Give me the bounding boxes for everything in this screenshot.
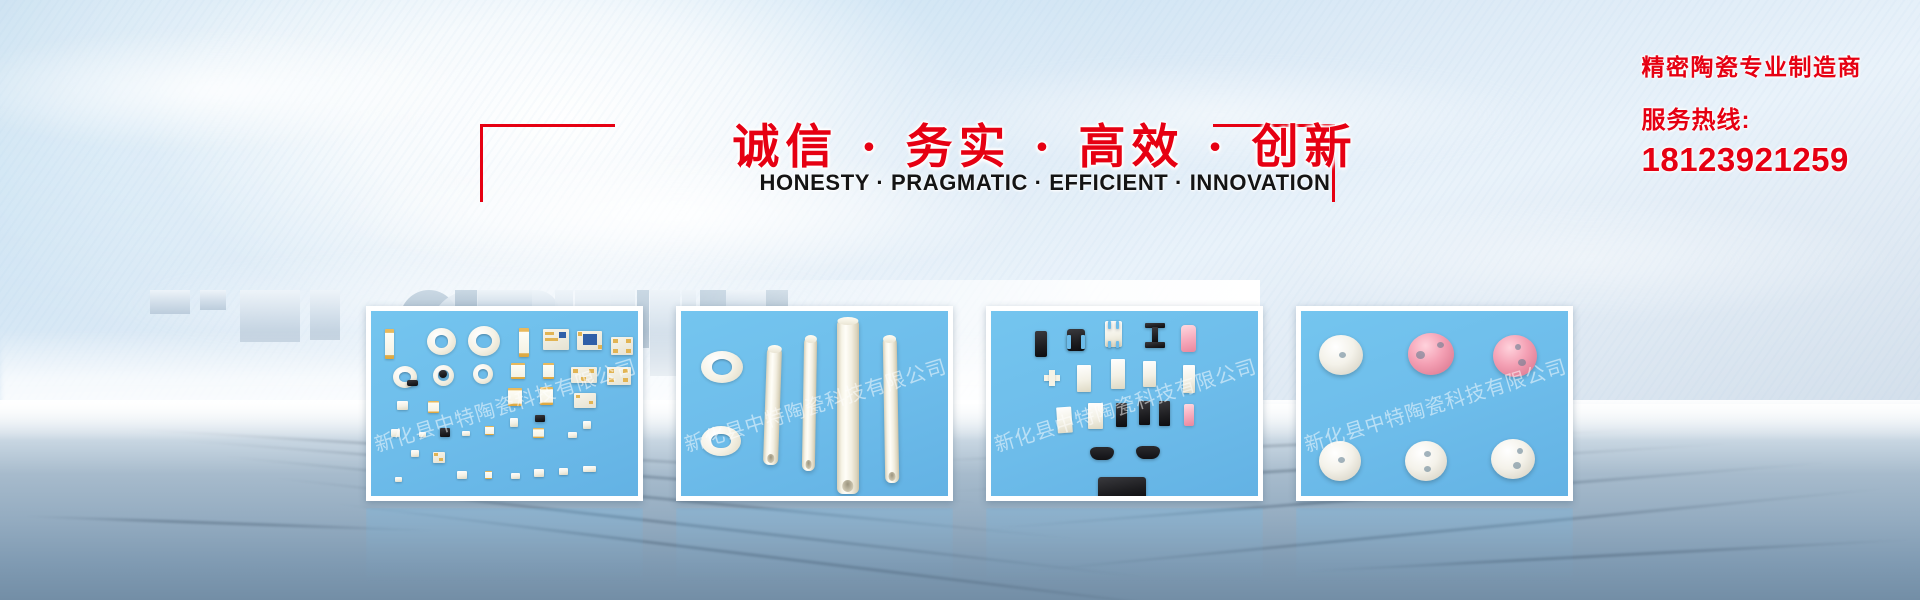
cloud-streak (1280, 200, 1900, 320)
product-panel-3[interactable]: 新化县中特陶瓷科技有限公司 (986, 306, 1263, 501)
bracket-top-left-vertical (480, 124, 483, 202)
panel-4-image: 新化县中特陶瓷科技有限公司 (1301, 311, 1568, 496)
panel-reflection (986, 508, 1263, 586)
hotline-label: 服务热线: (1642, 100, 1863, 135)
panel-reflection (366, 508, 643, 586)
product-panel-row: 新化县中特陶瓷科技有限公司 新化县中特陶瓷科技有限公司 (0, 306, 1920, 506)
product-panel-2[interactable]: 新化县中特陶瓷科技有限公司 (676, 306, 953, 501)
product-panel-1[interactable]: 新化县中特陶瓷科技有限公司 (366, 306, 643, 501)
panel-reflection (1296, 508, 1573, 586)
panel-3-image: 新化县中特陶瓷科技有限公司 (991, 311, 1258, 496)
product-panel-4[interactable]: 新化县中特陶瓷科技有限公司 (1296, 306, 1573, 501)
slogan-english: HONESTY · PRAGMATIC · EFFICIENT · INNOVA… (640, 170, 1450, 196)
panel-reflection (676, 508, 953, 586)
panel-2-image: 新化县中特陶瓷科技有限公司 (681, 311, 948, 496)
contact-block: 精密陶瓷专业制造商 服务热线: 18123921259 (1642, 48, 1863, 179)
slogan-chinese: 诚信 · 务实 · 高效 · 创新 (680, 108, 1410, 177)
background-scene (0, 0, 1920, 600)
hotline-number[interactable]: 18123921259 (1642, 141, 1863, 179)
panel-1-image: 新化县中特陶瓷科技有限公司 (371, 311, 638, 496)
panel-1-watermark: 新化县中特陶瓷科技有限公司 (371, 350, 638, 458)
company-tagline: 精密陶瓷专业制造商 (1642, 48, 1863, 82)
slogan-block: 诚信 · 务实 · 高效 · 创新 HONESTY · PRAGMATIC · … (0, 108, 1920, 218)
bracket-top-left-horizontal (480, 124, 615, 127)
